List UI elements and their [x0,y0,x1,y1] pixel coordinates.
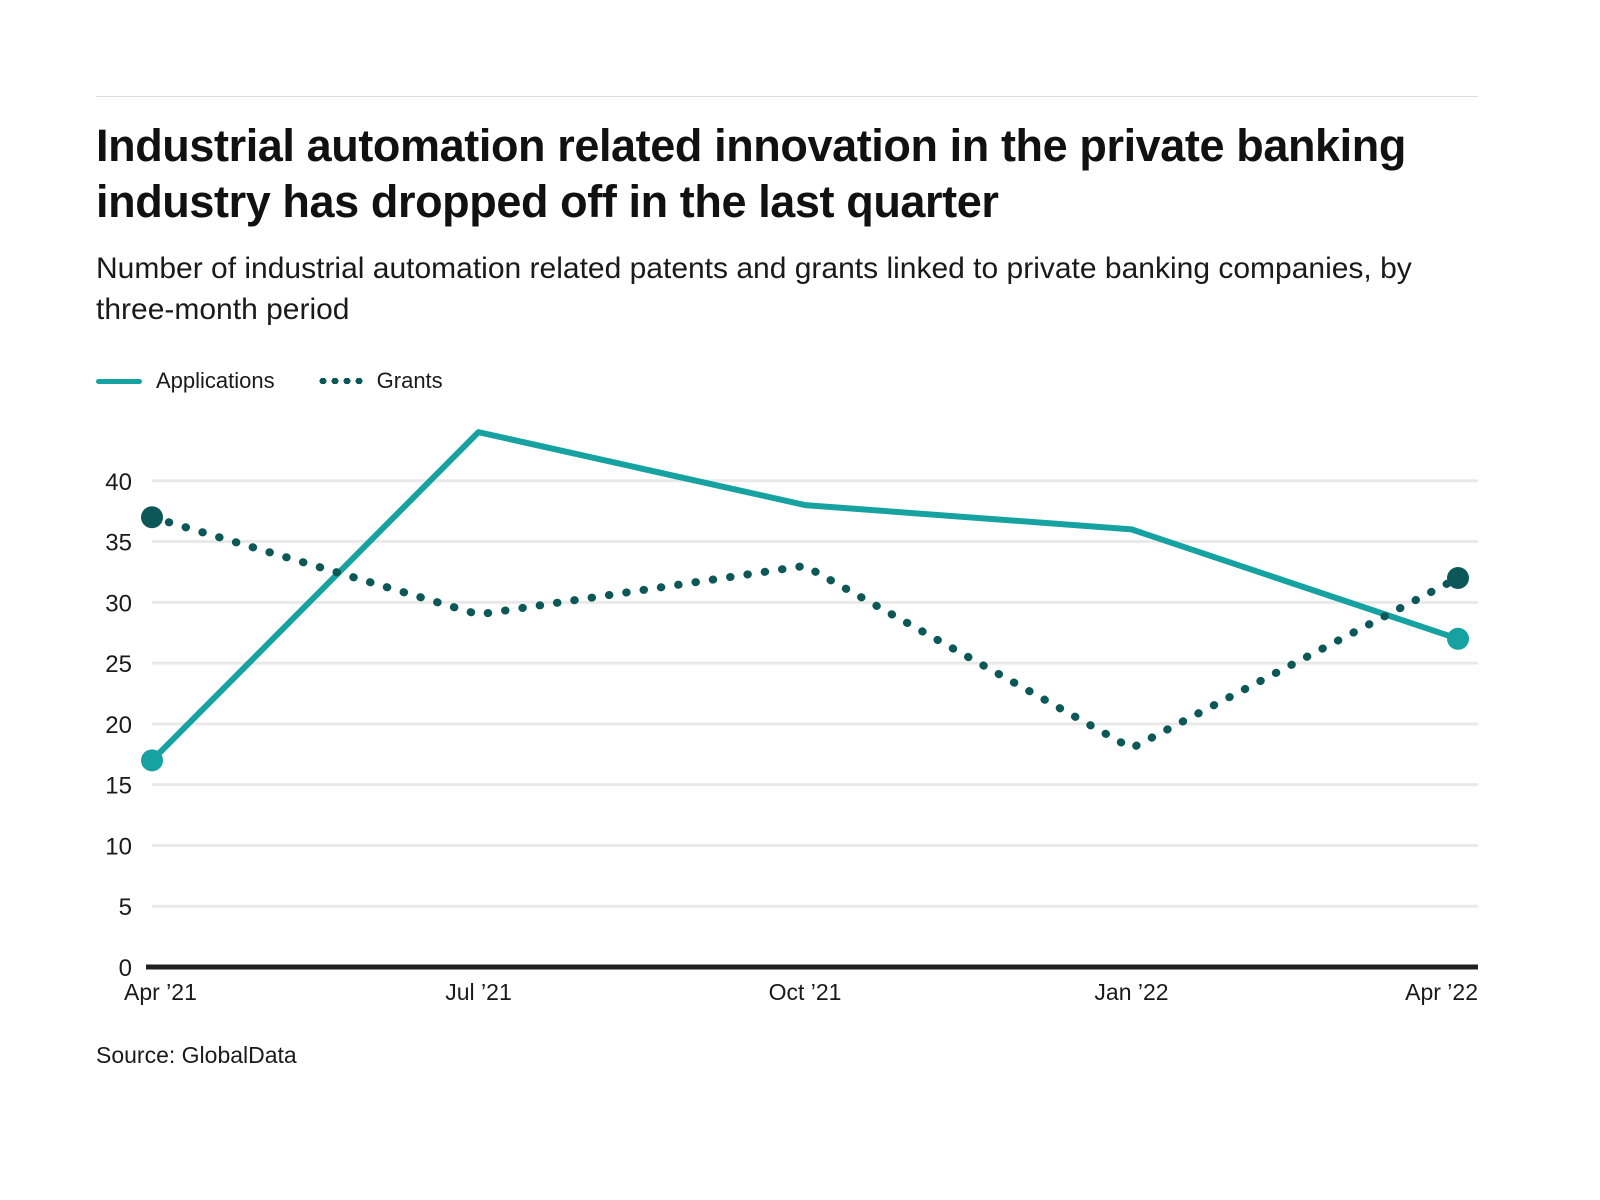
data-point-marker [1447,567,1469,589]
y-axis-tick-label: 30 [105,590,132,617]
y-axis-tick-label: 35 [105,530,132,557]
y-axis-tick-label: 10 [105,833,132,860]
data-point-marker [141,506,163,528]
data-point-marker [1447,628,1469,650]
x-axis-tick-label: Oct ’21 [769,979,842,1005]
y-axis-tick-label: 25 [105,651,132,678]
source-note: Source: GlobalData [96,1042,297,1069]
x-axis-tick-label: Jul ’21 [445,979,511,1005]
y-axis-tick-label: 5 [119,894,132,921]
y-axis-tick-label: 20 [105,712,132,739]
x-axis-tick-label: Jan ’22 [1094,979,1168,1005]
chart-page: Industrial automation related innovation… [0,0,1600,1200]
x-axis-tick-label: Apr ’22 [1405,979,1478,1005]
series-line-grants [152,517,1458,748]
y-axis-tick-label: 15 [105,773,132,800]
x-axis-tick-label: Apr ’21 [124,979,197,1005]
line-chart: 0510152025303540Apr ’21Jul ’21Oct ’21Jan… [0,0,1600,1200]
data-point-marker [141,749,163,771]
y-axis-tick-label: 0 [119,955,132,982]
y-axis-tick-label: 40 [105,469,132,496]
